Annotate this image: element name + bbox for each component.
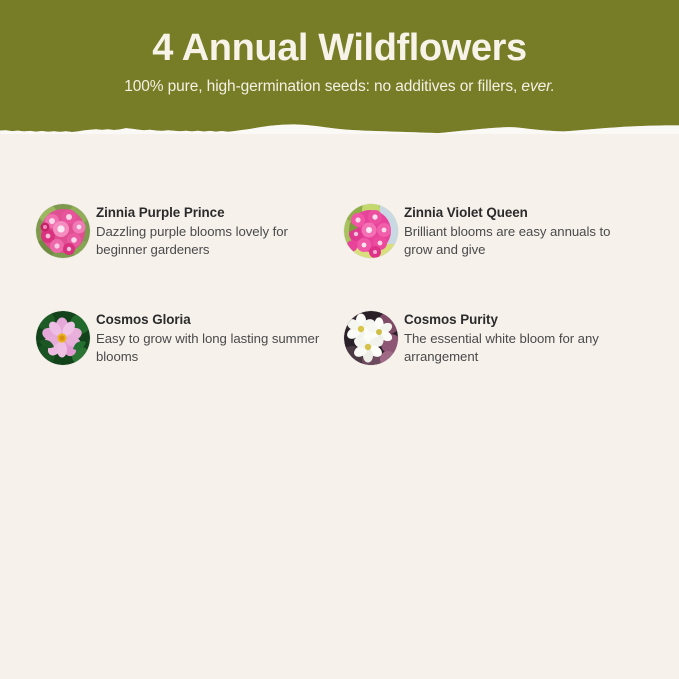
header-banner-content: 4 Annual Wildflowers 100% pure, high-ger… [0,0,679,98]
list-item-cosmos-purity[interactable]: Cosmos Purity The essential white bloom … [344,303,652,410]
item-text-block: Zinnia Purple Prince Dazzling purple blo… [90,196,322,258]
item-text-block: Cosmos Gloria Easy to grow with long las… [90,303,322,365]
zinnia-violet-queen-photo-icon [344,204,398,258]
list-item-title: Cosmos Gloria [96,311,322,329]
subtitle-plain-text: 100% pure, high-germination seeds: no ad… [124,78,521,95]
cosmos-purity-photo-icon [344,311,398,365]
subtitle-emphasis-text: ever. [521,78,554,95]
header-banner: 4 Annual Wildflowers 100% pure, high-ger… [0,0,679,146]
cosmos-gloria-photo-icon [36,311,90,365]
list-item-cosmos-gloria[interactable]: Cosmos Gloria Easy to grow with long las… [36,303,344,410]
list-item-title: Zinnia Purple Prince [96,204,322,222]
wildflower-list: Zinnia Purple Prince Dazzling purple blo… [36,196,651,410]
list-item-description: Easy to grow with long lasting summer bl… [96,330,322,365]
page-subtitle: 100% pure, high-germination seeds: no ad… [0,76,679,98]
zinnia-purple-prince-photo-icon [36,204,90,258]
thumbnail-wrapper [36,204,90,258]
list-item-description: Dazzling purple blooms lovely for beginn… [96,223,322,258]
torn-paper-edge-icon [0,121,679,146]
thumbnail-wrapper [344,311,398,365]
list-item-description: Brilliant blooms are easy annuals to gro… [404,223,630,258]
page-title: 4 Annual Wildflowers [0,26,679,70]
list-item-description: The essential white bloom for any arrang… [404,330,630,365]
item-text-block: Cosmos Purity The essential white bloom … [398,303,630,365]
list-item-title: Zinnia Violet Queen [404,204,630,222]
thumbnail-wrapper [36,311,90,365]
thumbnail-wrapper [344,204,398,258]
list-item-title: Cosmos Purity [404,311,630,329]
list-item-zinnia-violet-queen[interactable]: Zinnia Violet Queen Brilliant blooms are… [344,196,652,303]
item-text-block: Zinnia Violet Queen Brilliant blooms are… [398,196,630,258]
list-item-zinnia-purple-prince[interactable]: Zinnia Purple Prince Dazzling purple blo… [36,196,344,303]
